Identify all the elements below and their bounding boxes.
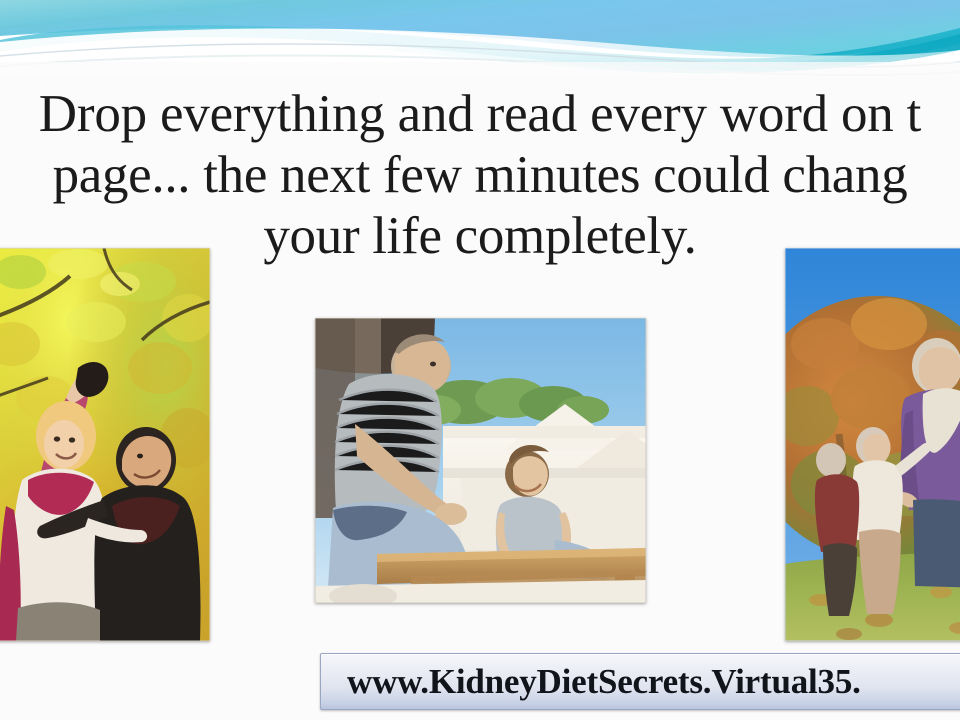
header-wave-banner xyxy=(0,0,960,78)
person-left-coat xyxy=(815,474,859,552)
website-url-bar[interactable]: www.KidneyDietSecrets.Virtual35. xyxy=(320,653,960,710)
photo-right-graphic xyxy=(785,248,960,641)
woman-face xyxy=(44,420,84,468)
person-mid-coat xyxy=(853,460,903,540)
wave-bottom-fade xyxy=(0,62,960,78)
page-headline: Drop everything and read every word on t… xyxy=(0,84,960,267)
photo-autumn-couple-left xyxy=(0,248,210,641)
person-mid-legs xyxy=(859,529,901,614)
person-left-head xyxy=(816,443,846,477)
website-url-text: www.KidneyDietSecrets.Virtual35. xyxy=(347,664,861,700)
photo-couple-porch-center xyxy=(315,318,646,603)
headline-line-1: Drop everything and read every word on t xyxy=(0,84,960,145)
woman-trousers xyxy=(16,602,100,641)
wave-graphic xyxy=(0,0,960,78)
photo-center-graphic xyxy=(315,318,646,603)
person-right-trousers xyxy=(913,499,960,588)
photo-autumn-walk-right xyxy=(785,248,960,641)
photo-left-graphic xyxy=(0,248,210,641)
headline-line-2: page... the next few minutes could chang xyxy=(0,145,960,206)
slide-canvas: Drop everything and read every word on t… xyxy=(0,0,960,720)
